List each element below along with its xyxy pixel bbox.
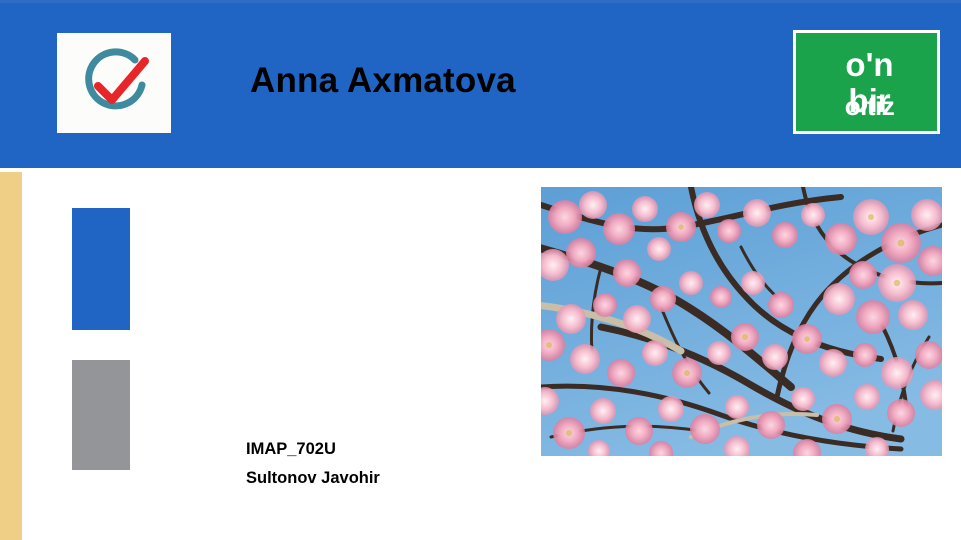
header-top-hairline <box>0 0 961 3</box>
badge-line-two: bir <box>796 81 943 121</box>
check-circle-icon <box>57 33 171 133</box>
author-caption: IMAP_702U Sultonov Javohir <box>246 435 526 493</box>
left-accent-stripe <box>0 172 22 540</box>
cherry-blossom-photo <box>541 187 942 456</box>
decorative-rect-gray <box>72 360 130 470</box>
decorative-rect-blue <box>72 208 130 330</box>
cherry-blossom-illustration <box>541 187 942 456</box>
page-title: Anna Axmatova <box>250 56 770 108</box>
presentation-slide: Anna Axmatova o'n oltiz bir IMAP_702U Su… <box>0 0 961 540</box>
caption-line-author: Sultonov Javohir <box>246 464 526 493</box>
badge-line-one: o'n <box>796 45 943 85</box>
logo-plate <box>57 33 171 133</box>
lesson-number-badge: o'n oltiz bir <box>793 30 940 134</box>
caption-line-group: IMAP_702U <box>246 435 526 464</box>
